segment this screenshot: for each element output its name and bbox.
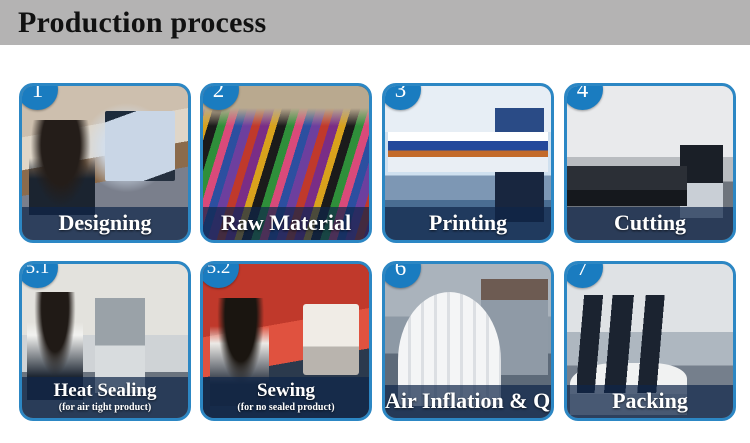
page-title: Production process bbox=[18, 4, 266, 42]
process-step-grid: Designing 1 Raw Material 2 Printing bbox=[0, 45, 750, 431]
step-badge-number: 5.2 bbox=[200, 261, 239, 288]
step-label: Air Inflation & QC bbox=[385, 388, 551, 414]
step-card-cutting[interactable]: Cutting 4 bbox=[564, 83, 736, 243]
step-label: Cutting bbox=[567, 210, 733, 236]
step-label-bar: Packing bbox=[567, 385, 733, 418]
step-badge-number: 6 bbox=[382, 261, 421, 288]
step-card-designing[interactable]: Designing 1 bbox=[19, 83, 191, 243]
step-sublabel: (for no sealed product) bbox=[203, 402, 369, 414]
step-badge-number: 1 bbox=[19, 83, 58, 110]
step-card-heat-sealing[interactable]: Heat Sealing (for air tight product) 5.1 bbox=[19, 261, 191, 421]
step-card-raw-material[interactable]: Raw Material 2 bbox=[200, 83, 372, 243]
step-badge-number: 2 bbox=[200, 83, 239, 110]
step-badge-5-1: 5.1 bbox=[19, 261, 58, 288]
step-badge-number: 3 bbox=[382, 83, 421, 110]
process-row-1: Designing 1 Raw Material 2 Printing bbox=[0, 83, 750, 265]
step-card-air-inflation-qc[interactable]: Air Inflation & QC 6 bbox=[382, 261, 554, 421]
process-row-2: Heat Sealing (for air tight product) 5.1… bbox=[0, 261, 750, 443]
step-card-sewing[interactable]: Sewing (for no sealed product) 5.2 bbox=[200, 261, 372, 421]
step-label-bar: Printing bbox=[385, 207, 551, 240]
step-badge-5-2: 5.2 bbox=[200, 261, 239, 288]
step-label: Heat Sealing bbox=[22, 380, 188, 402]
step-label-bar: Air Inflation & QC bbox=[385, 385, 551, 418]
production-process-infographic: Production process Designing 1 Raw Mater… bbox=[0, 0, 750, 431]
step-card-printing[interactable]: Printing 3 bbox=[382, 83, 554, 243]
step-badge-7: 7 bbox=[564, 261, 603, 288]
step-label: Raw Material bbox=[203, 210, 369, 236]
step-label: Packing bbox=[567, 388, 733, 414]
step-badge-1: 1 bbox=[19, 83, 58, 110]
step-badge-2: 2 bbox=[200, 83, 239, 110]
step-badge-number: 4 bbox=[564, 83, 603, 110]
step-label-bar: Designing bbox=[22, 207, 188, 240]
step-sublabel: (for air tight product) bbox=[22, 402, 188, 414]
step-badge-number: 5.1 bbox=[19, 261, 58, 288]
step-badge-3: 3 bbox=[382, 83, 421, 110]
step-badge-6: 6 bbox=[382, 261, 421, 288]
step-badge-number: 7 bbox=[564, 261, 603, 288]
step-badge-4: 4 bbox=[564, 83, 603, 110]
step-label: Designing bbox=[22, 210, 188, 236]
step-label-bar: Sewing (for no sealed product) bbox=[203, 377, 369, 418]
step-label: Sewing bbox=[203, 380, 369, 402]
step-card-packing[interactable]: Packing 7 bbox=[564, 261, 736, 421]
step-label: Printing bbox=[385, 210, 551, 236]
step-label-bar: Heat Sealing (for air tight product) bbox=[22, 377, 188, 418]
step-label-bar: Cutting bbox=[567, 207, 733, 240]
step-label-bar: Raw Material bbox=[203, 207, 369, 240]
